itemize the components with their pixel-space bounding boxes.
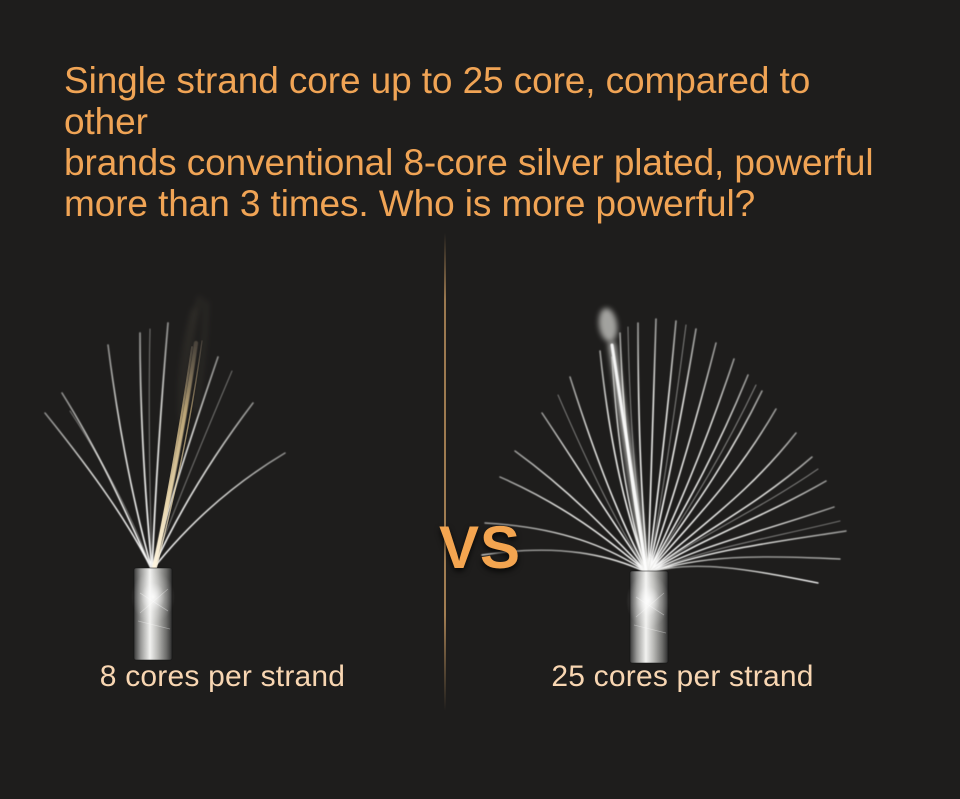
comparison-panel-right: 25 cores per strand bbox=[460, 225, 905, 725]
page-title: Single strand core up to 25 core, compar… bbox=[64, 60, 904, 224]
cable-image-8-core bbox=[0, 225, 445, 665]
poster-canvas: Single strand core up to 25 core, compar… bbox=[0, 0, 960, 799]
comparison-panel-left: 8 cores per strand bbox=[0, 225, 445, 725]
caption-left: 8 cores per strand bbox=[0, 660, 445, 694]
cable-image-25-core bbox=[460, 225, 905, 665]
caption-right: 25 cores per strand bbox=[460, 660, 911, 694]
vs-label: VS bbox=[0, 513, 960, 582]
comparison-stage: 8 cores per strand bbox=[0, 225, 960, 725]
